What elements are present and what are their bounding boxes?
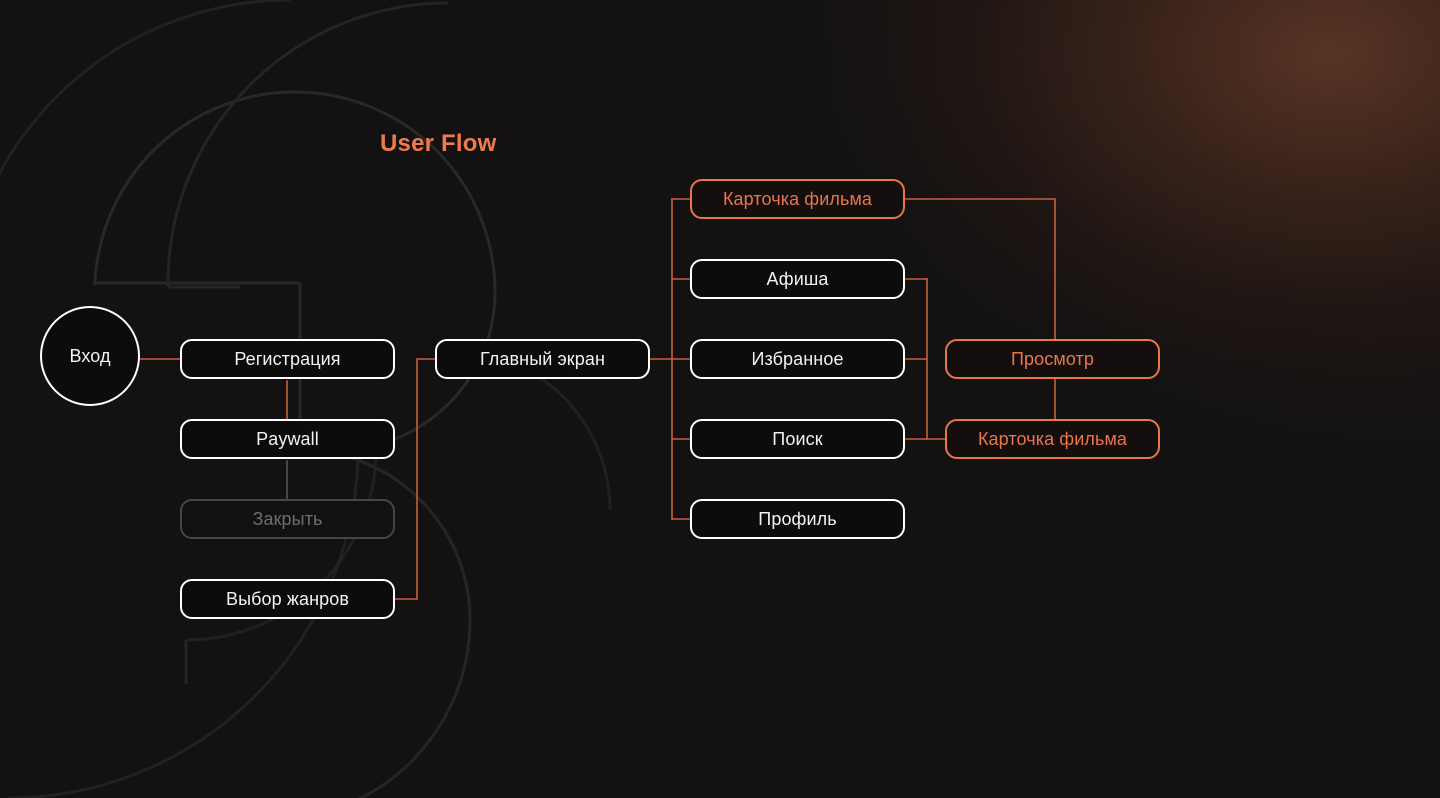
node-movie-card-top[interactable]: Карточка фильма: [690, 179, 905, 219]
node-entry[interactable]: Вход: [40, 306, 140, 406]
node-poster[interactable]: Афиша: [690, 259, 905, 299]
node-close-label: Закрыть: [252, 509, 322, 530]
node-search[interactable]: Поиск: [690, 419, 905, 459]
node-watch[interactable]: Просмотр: [945, 339, 1160, 379]
node-close[interactable]: Закрыть: [180, 499, 395, 539]
node-favorites-label: Избранное: [751, 349, 843, 370]
node-main-screen[interactable]: Главный экран: [435, 339, 650, 379]
connector-layer: [0, 0, 1440, 798]
node-movie-card-top-label: Карточка фильма: [723, 189, 872, 210]
node-movie-card-right[interactable]: Карточка фильма: [945, 419, 1160, 459]
background-watermark-numeral: [0, 0, 1440, 798]
node-genre-selection-label: Выбор жанров: [226, 589, 349, 610]
node-paywall-label: Paywall: [256, 429, 319, 450]
node-favorites[interactable]: Избранное: [690, 339, 905, 379]
node-registration[interactable]: Регистрация: [180, 339, 395, 379]
node-profile[interactable]: Профиль: [690, 499, 905, 539]
node-watch-label: Просмотр: [1011, 349, 1094, 370]
background-glow: [0, 0, 1440, 798]
edge-genres-to-main-screen: [395, 359, 435, 599]
node-main-screen-label: Главный экран: [480, 349, 605, 370]
user-flow-canvas: User Flow Вход Регистрация Paywall Закры…: [0, 0, 1440, 798]
node-poster-label: Афиша: [766, 269, 828, 290]
node-registration-label: Регистрация: [234, 349, 340, 370]
edge-movie-card-to-watch: [905, 199, 1055, 359]
page-title: User Flow: [380, 130, 497, 158]
node-genre-selection[interactable]: Выбор жанров: [180, 579, 395, 619]
node-entry-label: Вход: [69, 346, 110, 367]
node-paywall[interactable]: Paywall: [180, 419, 395, 459]
node-profile-label: Профиль: [758, 509, 836, 530]
node-search-label: Поиск: [772, 429, 822, 450]
node-movie-card-right-label: Карточка фильма: [978, 429, 1127, 450]
